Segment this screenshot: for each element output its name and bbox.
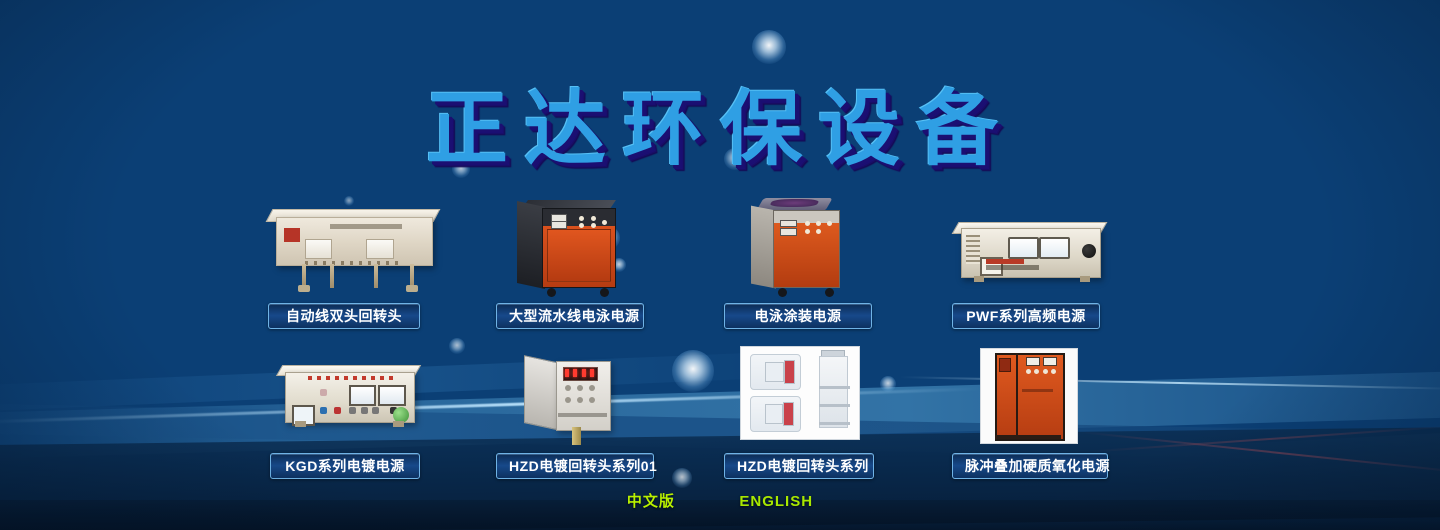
product-image-pwf-series-high-frequency-power-supply[interactable] [952,210,1108,294]
bokeh-orb [880,376,896,392]
background-wave-band [0,370,1440,460]
product-label-hzd-electroplating-rotary-head-series-01[interactable]: HZD电镀回转头系列01 [496,453,654,479]
background-accent-streak [1090,425,1440,452]
language-link-chinese[interactable]: 中文版 [627,493,675,510]
bokeh-orb [672,350,714,392]
page-title: 正达环保设备 [0,62,1440,181]
product-image-electrophoretic-coating-power-supply[interactable] [742,196,854,294]
product-image-automatic-line-double-head-rotary-device[interactable] [262,200,442,292]
product-image-large-assembly-line-electrophoresis-power-supply[interactable] [512,196,628,294]
background-accent-streak [1081,431,1440,475]
product-label-kgd-series-electroplating-power-supply[interactable]: KGD系列电镀电源 [270,453,420,479]
product-label-pwf-series-high-frequency-power-supply[interactable]: PWF系列高频电源 [952,303,1100,329]
product-image-pulse-superimposed-hard-anodizing-power-supply[interactable] [976,345,1080,445]
background-wave-band [0,427,1440,530]
splash-page: 正达环保设备 自动线双头回转头 [0,0,1440,530]
product-label-electrophoretic-coating-power-supply[interactable]: 电泳涂装电源 [724,303,872,329]
product-image-hzd-electroplating-rotary-head-series[interactable] [738,342,860,442]
product-image-kgd-series-electroplating-power-supply[interactable] [276,355,422,439]
bokeh-orb [672,468,692,488]
product-label-large-assembly-line-electrophoresis-power-supply[interactable]: 大型流水线电泳电源 [496,303,644,329]
product-label-hzd-electroplating-rotary-head-series[interactable]: HZD电镀回转头系列 [724,453,874,479]
language-selector: 中文版 ENGLISH [0,490,1440,511]
product-label-pulse-superimposed-hard-anodizing-power-supply[interactable]: 脉冲叠加硬质氧化电源 [952,453,1108,479]
background-wave-band [0,403,1440,464]
bokeh-orb [752,30,786,64]
product-label-automatic-line-double-head-rotary-device[interactable]: 自动线双头回转头 [268,303,420,329]
bokeh-orb [449,338,465,354]
product-image-hzd-electroplating-rotary-head-series-01[interactable] [512,345,628,445]
language-link-english[interactable]: ENGLISH [739,493,813,510]
